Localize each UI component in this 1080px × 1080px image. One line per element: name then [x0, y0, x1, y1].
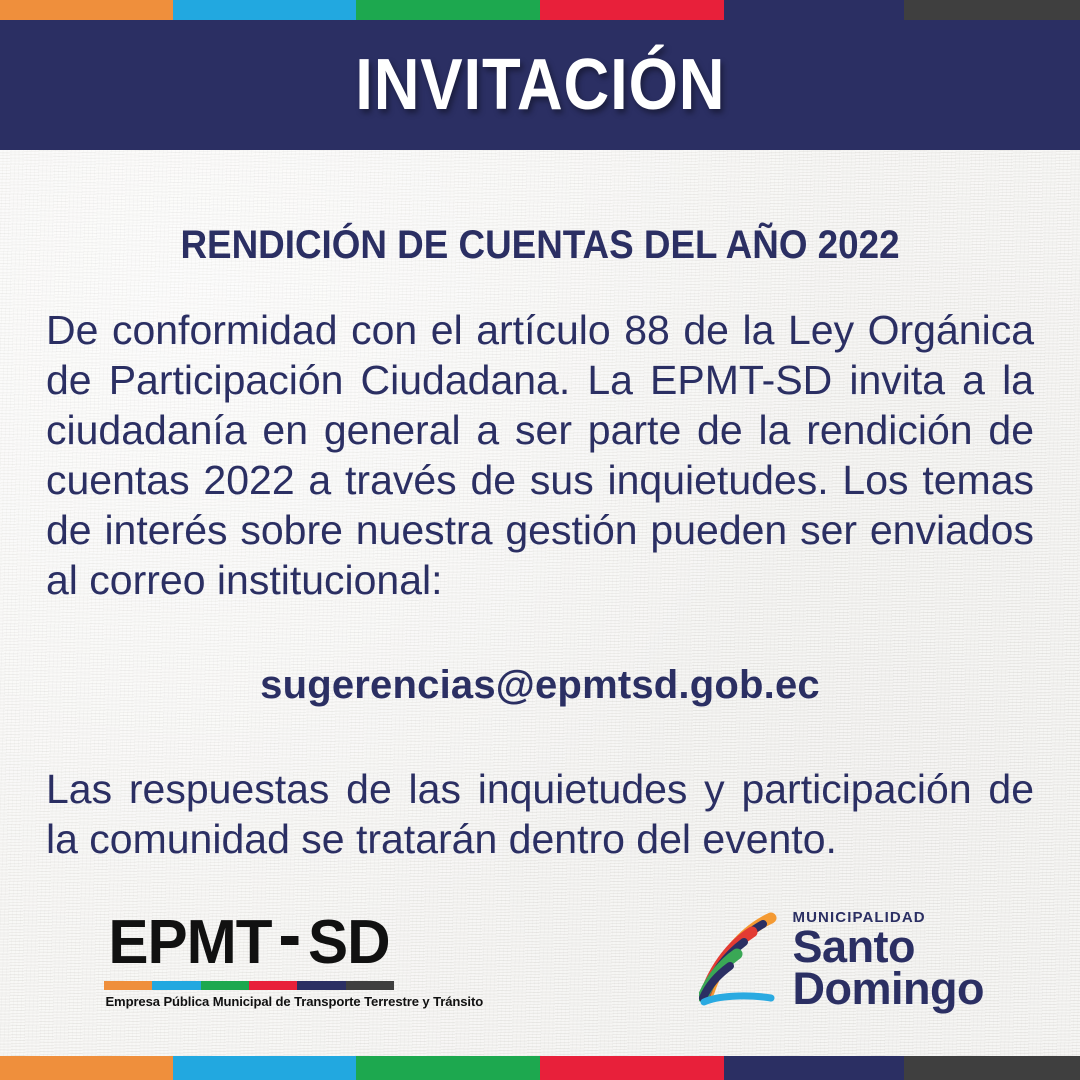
page-title: INVITACIÓN	[355, 49, 725, 121]
stripe-segment-green	[356, 1056, 540, 1080]
epmt-wordmark: EPMT SD	[108, 912, 389, 974]
stripe-segment-navy	[724, 1056, 904, 1080]
bottom-color-stripe-bar	[0, 1056, 1080, 1080]
stripe-segment-blue	[173, 0, 357, 20]
epmt-wordmark-part1: EPMT	[108, 912, 271, 974]
epmt-tagline: Empresa Pública Municipal de Transporte …	[105, 994, 392, 1009]
epmt-logo-stripe-bar	[104, 981, 394, 990]
stripe-segment-navy	[724, 0, 904, 20]
stripe-segment-red	[540, 1056, 724, 1080]
header-band: INVITACIÓN	[0, 20, 1080, 150]
invitation-poster: INVITACIÓN RENDICIÓN DE CUENTAS DEL AÑO …	[0, 0, 1080, 1080]
stripe-segment-blue	[173, 1056, 357, 1080]
epmt-wordmark-part2: SD	[308, 912, 390, 974]
epmt-stripe-dark-gray	[346, 981, 394, 990]
santo-domingo-wordmark: MUNICIPALIDAD Santo Domingo	[793, 910, 984, 1011]
epmt-sd-logo: EPMT SD Empresa Pública Municipal de Tra…	[104, 912, 394, 1009]
closing-block: Las respuestas de las inquietudes y part…	[46, 708, 1034, 864]
top-color-stripe-bar	[0, 0, 1080, 20]
santo-domingo-fan-icon	[699, 910, 785, 1010]
epmt-stripe-green	[201, 981, 249, 990]
stripe-segment-orange	[0, 1056, 173, 1080]
santo-domingo-logo: MUNICIPALIDAD Santo Domingo	[699, 910, 984, 1011]
body-paragraph: De conformidad con el artículo 88 de la …	[46, 267, 1034, 605]
stripe-segment-red	[540, 0, 724, 20]
contact-email[interactable]: sugerencias@epmtsd.gob.ec	[46, 605, 1034, 708]
stripe-segment-dark-gray	[904, 1056, 1080, 1080]
epmt-stripe-navy	[297, 981, 345, 990]
logo-row: EPMT SD Empresa Pública Municipal de Tra…	[0, 886, 1080, 1056]
subtitle-heading: RENDICIÓN DE CUENTAS DEL AÑO 2022	[86, 150, 995, 267]
santo-domingo-line1: Santo	[793, 926, 984, 968]
epmt-stripe-orange	[104, 981, 152, 990]
stripe-segment-dark-gray	[904, 0, 1080, 20]
stripe-segment-orange	[0, 0, 173, 20]
epmt-stripe-blue	[152, 981, 200, 990]
stripe-segment-green	[356, 0, 540, 20]
closing-paragraph: Las respuestas de las inquietudes y part…	[46, 764, 1034, 864]
epmt-stripe-red	[249, 981, 297, 990]
santo-domingo-line2: Domingo	[793, 968, 984, 1010]
epmt-dash-icon	[281, 936, 298, 945]
